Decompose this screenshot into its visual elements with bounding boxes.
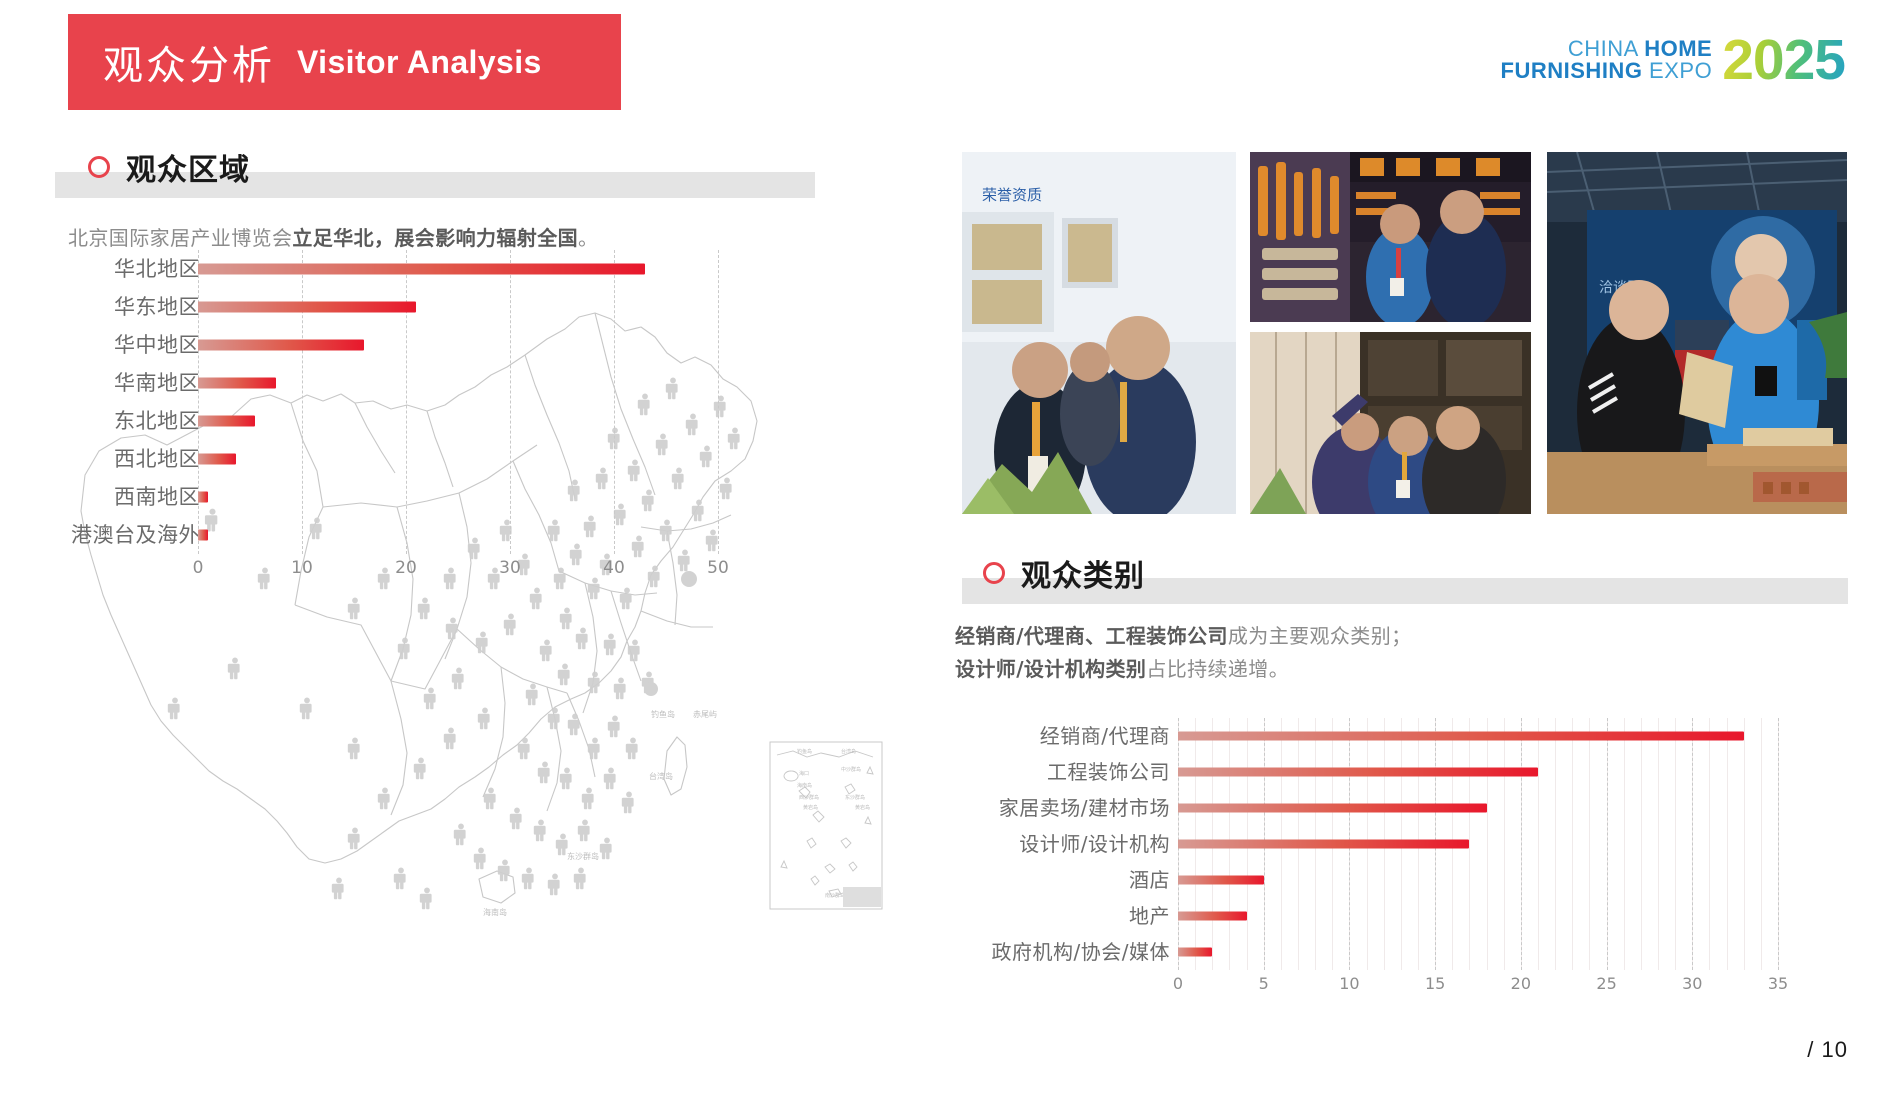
chart-bar <box>198 302 416 313</box>
logo-year: 2025 <box>1722 34 1845 86</box>
chart-bar-track <box>198 364 718 402</box>
chart-bar-row <box>1178 934 1778 970</box>
chart-bar-row <box>198 326 718 364</box>
chart-bar-row <box>198 402 718 440</box>
category-lead-bold-1: 经销商/代理商、工程装饰公司 <box>955 624 1228 648</box>
logo-expo: EXPO <box>1649 58 1712 83</box>
chart-bar-track <box>1178 934 1778 970</box>
page-title-cn: 观众分析 <box>103 33 275 91</box>
chart-bar <box>198 378 276 389</box>
svg-text:钓鱼岛: 钓鱼岛 <box>651 709 675 719</box>
category-lead-plain-2: 占比持续递增。 <box>1146 657 1289 681</box>
section-title-region: 观众区域 <box>126 145 250 189</box>
chart-bar-track <box>198 250 718 288</box>
chart-type-label: 酒店 <box>930 862 1170 898</box>
chart-bar <box>1178 804 1487 813</box>
chart-region-label: 西北地区 <box>60 440 200 478</box>
chart-bar-track <box>1178 898 1778 934</box>
chart-type-label: 地产 <box>930 898 1170 934</box>
photo-booth-certificates: 荣誉资质 <box>962 152 1236 514</box>
chart-region-bars <box>198 250 718 554</box>
axis-tick-label: 10 <box>291 558 313 578</box>
chart-bar-row <box>198 440 718 478</box>
circle-outline-icon <box>983 562 1005 584</box>
gridline-minor <box>1778 718 1779 970</box>
chart-bar <box>1178 948 1212 957</box>
chart-region-label: 西南地区 <box>60 478 200 516</box>
chart-type-label: 设计师/设计机构 <box>930 826 1170 862</box>
axis-tick-label: 30 <box>1682 974 1702 993</box>
circle-outline-icon <box>88 156 110 178</box>
section-heading-category: 观众类别 <box>983 551 1145 595</box>
page-header-banner: 观众分析 Visitor Analysis <box>68 14 621 110</box>
axis-tick-label: 25 <box>1596 974 1616 993</box>
chart-type-label: 工程装饰公司 <box>930 754 1170 790</box>
slide-page: 观众分析 Visitor Analysis CHINA HOME FURNISH… <box>0 0 1890 1103</box>
svg-text:东沙群岛: 东沙群岛 <box>845 794 865 801</box>
section-title-category: 观众类别 <box>1021 551 1145 595</box>
category-lead-text: 经销商/代理商、工程装饰公司成为主要观众类别； 设计师/设计机构类别占比持续递增… <box>955 620 1412 686</box>
chart-visitor-category: 05101520253035 <box>1178 718 1778 970</box>
svg-text:中沙群岛: 中沙群岛 <box>841 766 861 773</box>
chart-bar-track <box>198 440 718 478</box>
svg-text:海南岛: 海南岛 <box>797 782 812 789</box>
category-lead-plain-1: 成为主要观众类别； <box>1228 624 1412 648</box>
gridline-major <box>1778 718 1779 970</box>
chart-bar <box>198 264 645 275</box>
chart-bar <box>1178 732 1744 741</box>
chart-bar-row <box>198 288 718 326</box>
chart-bar-track <box>198 516 718 554</box>
chart-bar <box>198 492 208 503</box>
chart-bar <box>1178 768 1538 777</box>
logo-line-2: FURNISHING EXPO <box>1501 60 1713 82</box>
svg-text:钓鱼岛: 钓鱼岛 <box>797 748 812 755</box>
chart-bar <box>198 340 364 351</box>
chart-region-label: 华东地区 <box>60 288 200 326</box>
chart-region-label: 华中地区 <box>60 326 200 364</box>
logo-home: HOME <box>1644 36 1712 61</box>
axis-tick-label: 5 <box>1259 974 1269 993</box>
section-heading-region: 观众区域 <box>88 145 250 189</box>
chart-type-label: 政府机构/协会/媒体 <box>930 934 1170 970</box>
chart-type-xaxis: 05101520253035 <box>1178 970 1778 996</box>
chart-region-label: 东北地区 <box>60 402 200 440</box>
svg-text:黄岩岛: 黄岩岛 <box>855 804 870 811</box>
category-lead-line-1: 经销商/代理商、工程装饰公司成为主要观众类别； <box>955 620 1412 653</box>
chart-bar-track <box>1178 826 1778 862</box>
chart-bar-row <box>1178 790 1778 826</box>
region-lead-text: 北京国际家居产业博览会立足华北，展会影响力辐射全国。 <box>68 222 598 251</box>
chart-bar-row <box>198 516 718 554</box>
chart-bar <box>1178 840 1469 849</box>
svg-text:海南岛: 海南岛 <box>483 907 507 917</box>
logo-furnishing: FURNISHING <box>1501 58 1650 83</box>
svg-text:赤尾屿: 赤尾屿 <box>693 710 717 719</box>
svg-text:海口: 海口 <box>799 770 809 777</box>
axis-tick-label: 0 <box>193 558 204 578</box>
photo-international-visitors: 洽谈区 <box>1547 152 1847 514</box>
chart-bar-track <box>198 478 718 516</box>
svg-text:荣誉资质: 荣誉资质 <box>982 186 1042 204</box>
chart-bar-row <box>198 250 718 288</box>
axis-tick-label: 20 <box>395 558 417 578</box>
svg-text:东沙群岛: 东沙群岛 <box>567 851 599 861</box>
axis-tick-label: 40 <box>603 558 625 578</box>
logo-line-1: CHINA HOME <box>1501 38 1713 60</box>
region-lead-plain-2: 。 <box>578 226 598 250</box>
svg-text:黄岩岛: 黄岩岛 <box>803 804 818 811</box>
axis-tick-label: 30 <box>499 558 521 578</box>
chart-bar <box>1178 876 1264 885</box>
chart-bar-track <box>198 288 718 326</box>
chart-bar <box>198 454 236 465</box>
chart-bar-row <box>198 478 718 516</box>
page-title-en: Visitor Analysis <box>297 44 542 81</box>
photo-visitors-cabinets <box>1250 332 1531 514</box>
chart-bar-row <box>1178 754 1778 790</box>
chart-bar-track <box>1178 862 1778 898</box>
expo-logo-text: CHINA HOME FURNISHING EXPO <box>1501 38 1713 87</box>
category-lead-bold-2: 设计师/设计机构类别 <box>955 657 1146 681</box>
axis-tick-label: 0 <box>1173 974 1183 993</box>
chart-type-label: 家居卖场/建材市场 <box>930 790 1170 826</box>
chart-bar-row <box>1178 826 1778 862</box>
photo-hardware-display <box>1250 152 1531 322</box>
chart-bar-row <box>1178 862 1778 898</box>
chart-region-labels: 华北地区 华东地区 华中地区 华南地区 东北地区 西北地区 西南地区 港澳台及海… <box>60 250 200 554</box>
expo-logo: CHINA HOME FURNISHING EXPO 2025 <box>1501 34 1845 86</box>
svg-text:台湾岛: 台湾岛 <box>649 771 673 781</box>
svg-text:西沙群岛: 西沙群岛 <box>799 794 819 801</box>
axis-tick-label: 35 <box>1768 974 1788 993</box>
axis-tick-label: 20 <box>1511 974 1531 993</box>
chart-bar-row <box>198 364 718 402</box>
page-number: / 10 <box>1807 1037 1848 1063</box>
svg-text:台湾岛: 台湾岛 <box>841 748 856 755</box>
chart-visitor-region: 01020304050 <box>198 250 718 554</box>
chart-region-label: 华南地区 <box>60 364 200 402</box>
chart-bar-track <box>1178 718 1778 754</box>
chart-bar-track <box>1178 754 1778 790</box>
chart-bar-row <box>1178 898 1778 934</box>
chart-bar-track <box>198 402 718 440</box>
region-lead-bold: 立足华北，展会影响力辐射全国 <box>292 226 578 250</box>
chart-bar-track <box>198 326 718 364</box>
axis-tick-label: 15 <box>1425 974 1445 993</box>
category-lead-line-2: 设计师/设计机构类别占比持续递增。 <box>955 653 1412 686</box>
chart-region-label: 港澳台及海外 <box>60 516 200 554</box>
logo-china: CHINA <box>1568 36 1644 61</box>
chart-bar <box>198 416 255 427</box>
axis-tick-label: 50 <box>707 558 729 578</box>
chart-bar <box>198 530 208 541</box>
chart-region-label: 华北地区 <box>60 250 200 288</box>
chart-type-label: 经销商/代理商 <box>930 718 1170 754</box>
photo-gallery: 荣誉资质 <box>962 152 1847 514</box>
svg-text:南沙群岛: 南沙群岛 <box>825 892 845 899</box>
region-lead-plain-1: 北京国际家居产业博览会 <box>68 226 292 250</box>
chart-type-bars <box>1178 718 1778 970</box>
chart-region-xaxis: 01020304050 <box>198 554 718 580</box>
chart-type-labels: 经销商/代理商 工程装饰公司 家居卖场/建材市场 设计师/设计机构 酒店 地产 … <box>930 718 1170 970</box>
chart-bar <box>1178 912 1247 921</box>
axis-tick-label: 10 <box>1339 974 1359 993</box>
chart-bar-row <box>1178 718 1778 754</box>
chart-bar-track <box>1178 790 1778 826</box>
